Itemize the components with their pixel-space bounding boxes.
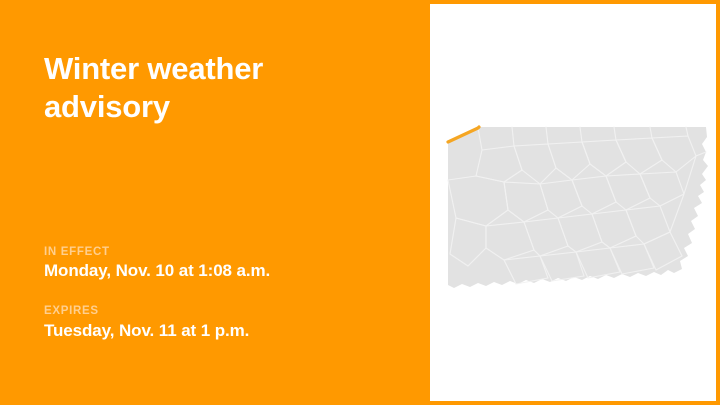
in-effect-group: IN EFFECT Monday, Nov. 10 at 1:08 a.m. (44, 245, 404, 282)
page-title: Winter weather advisory (44, 50, 384, 127)
alert-text-panel: Winter weather advisory IN EFFECT Monday… (0, 0, 430, 405)
expires-group: EXPIRES Tuesday, Nov. 11 at 1 p.m. (44, 304, 404, 341)
state-shape-group (448, 127, 708, 288)
weather-alert-card: Winter weather advisory IN EFFECT Monday… (0, 0, 720, 405)
expires-label: EXPIRES (44, 304, 404, 318)
in-effect-value: Monday, Nov. 10 at 1:08 a.m. (44, 260, 404, 282)
alert-timing-block: IN EFFECT Monday, Nov. 10 at 1:08 a.m. E… (44, 245, 404, 342)
in-effect-label: IN EFFECT (44, 245, 404, 259)
expires-value: Tuesday, Nov. 11 at 1 p.m. (44, 320, 404, 342)
pennsylvania-state-map-icon (430, 4, 716, 401)
map-panel (430, 4, 716, 401)
